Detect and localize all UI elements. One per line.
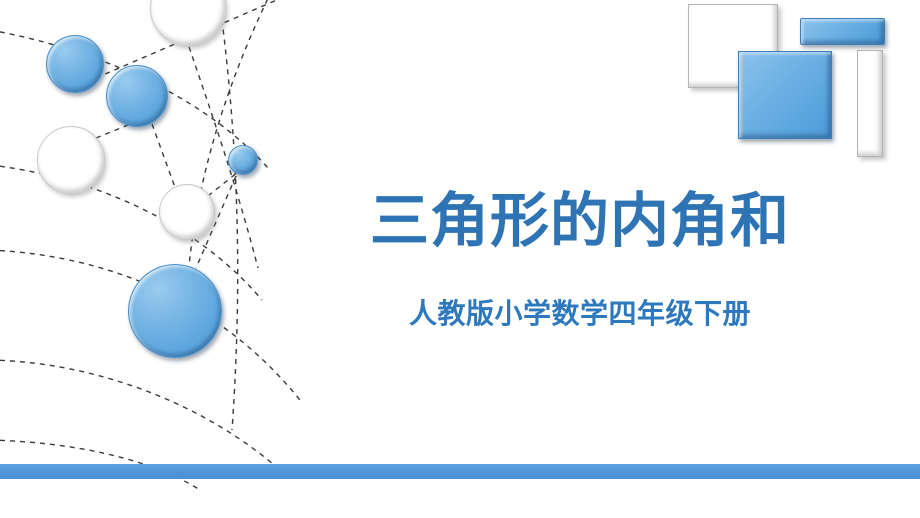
arc-6: [186, 0, 272, 310]
arc-3: [0, 250, 300, 400]
bottom-accent-bar: [0, 464, 920, 479]
connector-4: [208, 172, 238, 196]
circle-blue-upper-left: [46, 35, 104, 93]
square-blue-filled: [738, 51, 832, 139]
arc-4: [0, 360, 280, 470]
arc-1: [0, 30, 268, 168]
title-block: 三角形的内角和 人教版小学数学四年级下册: [300, 190, 860, 332]
page-subtitle: 人教版小学数学四年级下册: [300, 292, 860, 332]
connector-2: [96, 112, 160, 138]
connector-3: [152, 124, 176, 190]
page-title: 三角形的内角和: [300, 190, 860, 254]
connector-5: [196, 176, 236, 268]
decorative-shape-cluster: [680, 0, 920, 170]
presentation-slide: 三角形的内角和 人教版小学数学四年级下册: [0, 0, 920, 518]
circle-white-mid: [159, 184, 215, 240]
bar-white-vertical: [857, 50, 883, 157]
circle-blue-large-bottom: [128, 264, 222, 358]
circle-blue-upper-mid: [106, 65, 168, 127]
circle-blue-small: [228, 145, 258, 175]
circle-white-left: [37, 126, 105, 194]
arc-2: [0, 165, 262, 300]
connector-1: [96, 0, 300, 78]
circle-white-top: [150, 0, 226, 46]
arc-7: [170, 0, 258, 268]
arc-8: [218, 0, 238, 430]
bar-blue-horizontal: [800, 18, 885, 45]
square-white-outline: [688, 4, 778, 88]
